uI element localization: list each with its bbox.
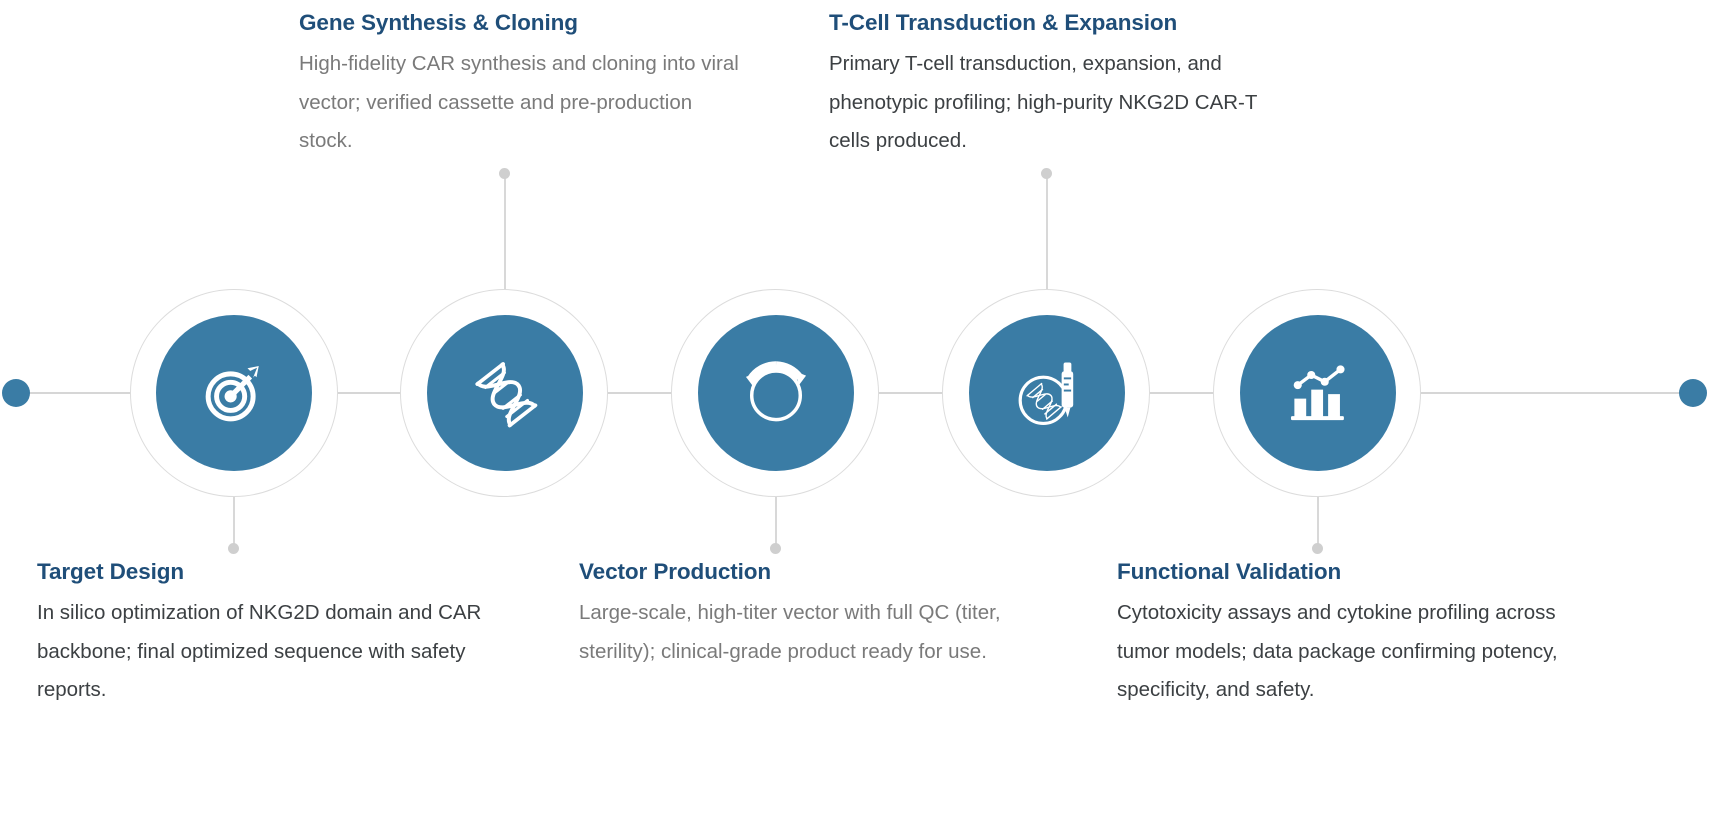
- stage-node-2[interactable]: [427, 315, 583, 471]
- process-timeline-diagram: Gene Synthesis & Cloning High-fidelity C…: [0, 0, 1709, 827]
- stage-node-5[interactable]: [1240, 315, 1396, 471]
- stage-node-1[interactable]: [156, 315, 312, 471]
- stage-node-4[interactable]: [969, 315, 1125, 471]
- target-arrow-icon: [198, 357, 270, 429]
- plasmid-circular-vector-icon: [739, 356, 813, 430]
- stage-body-4: Primary T-cell transduction, expansion, …: [829, 45, 1274, 161]
- stage-body-1: In silico optimization of NKG2D domain a…: [37, 594, 537, 710]
- stage-label-2: Gene Synthesis & Cloning High-fidelity C…: [299, 10, 744, 161]
- connector-dot-5: [1312, 543, 1323, 554]
- stage-body-2: High-fidelity CAR synthesis and cloning …: [299, 45, 744, 161]
- connector-dot-4: [1041, 168, 1052, 179]
- stage-title-1: Target Design: [37, 559, 537, 585]
- timeline-end-dot: [1679, 379, 1707, 407]
- stage-title-4: T-Cell Transduction & Expansion: [829, 10, 1274, 36]
- connector-dot-1: [228, 543, 239, 554]
- stage-node-3[interactable]: [698, 315, 854, 471]
- stage-title-5: Functional Validation: [1117, 559, 1567, 585]
- stage-label-3: Vector Production Large-scale, high-tite…: [579, 559, 1009, 671]
- stage-body-5: Cytotoxicity assays and cytokine profili…: [1117, 594, 1567, 710]
- stage-label-5: Functional Validation Cytotoxicity assay…: [1117, 559, 1567, 710]
- connector-dot-2: [499, 168, 510, 179]
- dna-helix-icon: [470, 358, 540, 428]
- stage-body-3: Large-scale, high-titer vector with full…: [579, 594, 1009, 671]
- stage-label-1: Target Design In silico optimization of …: [37, 559, 537, 710]
- timeline-start-dot: [2, 379, 30, 407]
- stage-title-3: Vector Production: [579, 559, 1009, 585]
- cell-dna-pipette-icon: [1008, 354, 1086, 432]
- bar-chart-line-icon: [1282, 357, 1354, 429]
- connector-dot-3: [770, 543, 781, 554]
- stage-label-4: T-Cell Transduction & Expansion Primary …: [829, 10, 1274, 161]
- stage-title-2: Gene Synthesis & Cloning: [299, 10, 744, 36]
